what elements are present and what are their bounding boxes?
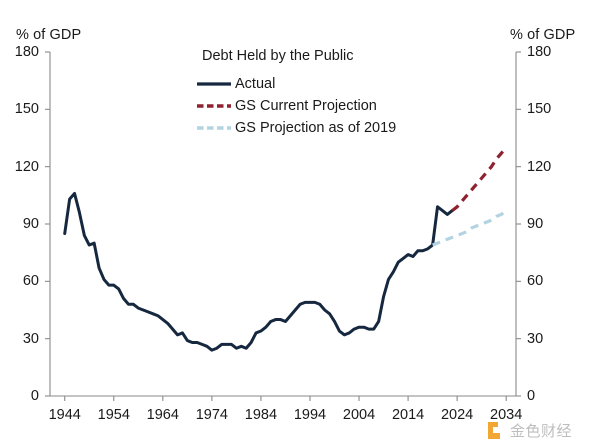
chart-legend: Debt Held by the Public ActualGS Current…: [197, 48, 527, 139]
y-axis-tick-label-right: 180: [527, 45, 551, 60]
y-axis-tick-label-right: 120: [527, 159, 551, 174]
y-axis-tick-label-left: 30: [0, 331, 39, 346]
watermark-text: 金色财经: [510, 420, 572, 441]
series-line: [65, 193, 453, 350]
y-axis-tick-label-left: 180: [0, 45, 39, 60]
watermark: 金色财经: [487, 420, 572, 441]
solid-line-icon: [197, 78, 231, 90]
x-axis-tick-label: 2014: [392, 408, 424, 423]
x-axis-tick-label: 2024: [441, 408, 473, 423]
y-axis-tick-label-right: 60: [527, 274, 543, 289]
y-axis-tick-label-left: 120: [0, 159, 39, 174]
x-axis-tick-label: 2004: [343, 408, 375, 423]
chart-container: % of GDP % of GDP 0306090120150180 03060…: [0, 0, 600, 448]
x-axis-tick-label: 1984: [245, 408, 277, 423]
legend-item-label: GS Projection as of 2019: [235, 120, 396, 136]
y-axis-tick-label-left: 90: [0, 217, 39, 232]
watermark-logo-icon: [487, 421, 506, 440]
x-axis-tick-label: 1954: [98, 408, 130, 423]
x-axis-tick-label: 1944: [49, 408, 81, 423]
legend-item-label: Actual: [235, 76, 275, 92]
legend-item: GS Current Projection: [197, 95, 527, 117]
chart-series: [65, 148, 506, 351]
y-axis-tick-label-right: 30: [527, 331, 543, 346]
x-axis-tick-label: 1964: [147, 408, 179, 423]
x-axis-tick-label: 1974: [196, 408, 228, 423]
legend-item-label: GS Current Projection: [235, 98, 377, 114]
legend-title: Debt Held by the Public: [202, 48, 527, 64]
series-line: [452, 148, 506, 211]
series-line: [433, 211, 507, 245]
y-axis-tick-label-right: 90: [527, 217, 543, 232]
y-axis-tick-label-right: 150: [527, 102, 551, 117]
y-axis-tick-label-right: 0: [527, 389, 535, 404]
dashed-line-icon: [197, 122, 231, 134]
legend-item: GS Projection as of 2019: [197, 117, 527, 139]
x-axis-tick-label: 1994: [294, 408, 326, 423]
y-axis-tick-label-left: 0: [0, 389, 39, 404]
legend-item: Actual: [197, 73, 527, 95]
dashed-line-icon: [197, 100, 231, 112]
y-axis-tick-label-left: 60: [0, 274, 39, 289]
y-axis-tick-label-left: 150: [0, 102, 39, 117]
